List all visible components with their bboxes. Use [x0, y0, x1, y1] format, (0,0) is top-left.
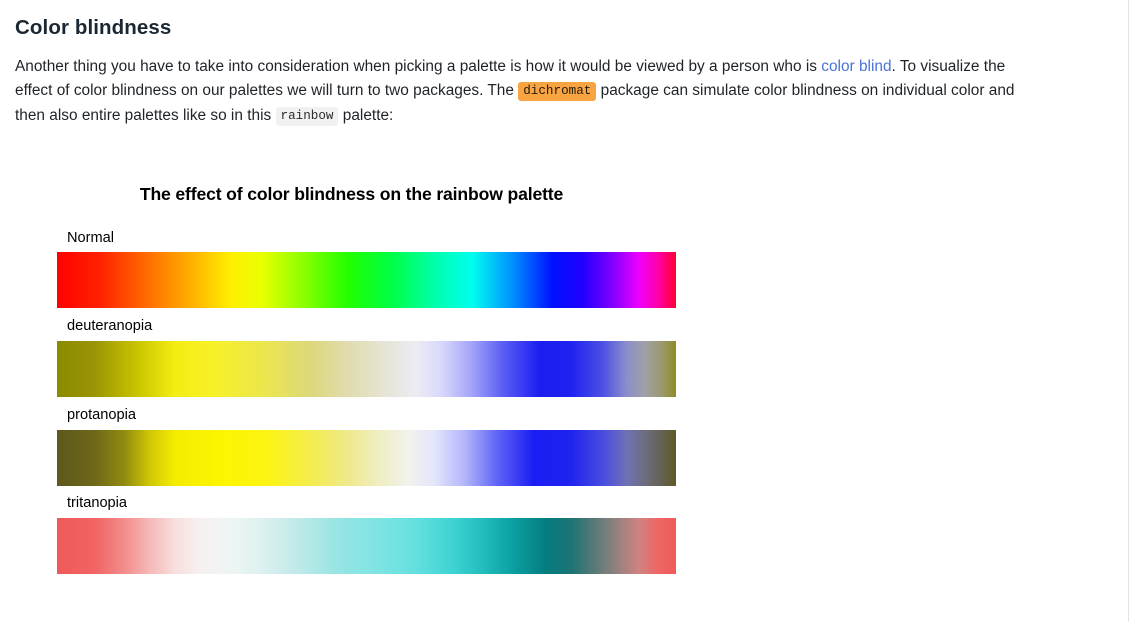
content-pane-right-border: [1128, 0, 1129, 622]
palette-bar-deuteranopia: [57, 341, 676, 397]
dichromat-code-chip: dichromat: [518, 82, 596, 101]
palette-label-deuteranopia: deuteranopia: [67, 318, 152, 334]
figure-title: The effect of color blindness on the rai…: [42, 184, 661, 205]
palette-bar-tritanopia: [57, 518, 676, 574]
rainbow-code-chip: rainbow: [276, 107, 339, 126]
palette-label-protanopia: protanopia: [67, 407, 136, 423]
intro-paragraph: Another thing you have to take into cons…: [15, 55, 1027, 128]
color-blindness-figure: The effect of color blindness on the rai…: [42, 160, 682, 600]
palette-label-tritanopia: tritanopia: [67, 495, 127, 511]
palette-bar-protanopia: [57, 430, 676, 486]
color-blind-link[interactable]: color blind: [821, 58, 891, 75]
palette-bar-normal: [57, 252, 676, 308]
page-root: Color blindness Another thing you have t…: [0, 0, 1139, 622]
paragraph-text-part-1: Another thing you have to take into cons…: [15, 58, 821, 75]
paragraph-text-part-4: palette:: [338, 107, 393, 124]
palette-label-normal: Normal: [67, 230, 114, 246]
page-title: Color blindness: [15, 15, 171, 41]
